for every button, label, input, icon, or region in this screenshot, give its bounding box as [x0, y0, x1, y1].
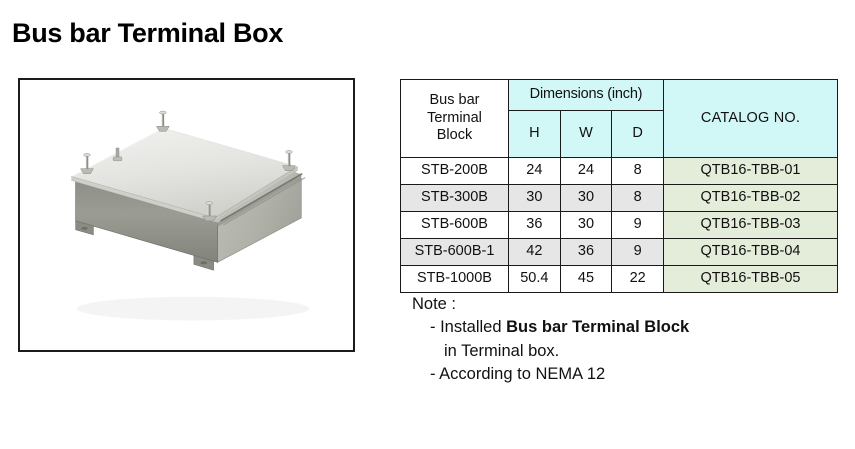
cell-w: 36: [560, 239, 612, 266]
cell-h: 30: [509, 185, 561, 212]
table-row: STB-1000B 50.4 45 22 QTB16-TBB-05: [401, 266, 838, 293]
header-terminal-block-line1: Bus bar: [401, 92, 508, 110]
note-line-3: - According to NEMA 12: [430, 363, 689, 386]
lid-screw: [81, 153, 94, 173]
cell-block-name: STB-600B-1: [401, 239, 509, 266]
header-terminal-block: Bus bar Terminal Block: [401, 80, 509, 158]
table-row: STB-600B-1 42 36 9 QTB16-TBB-04: [401, 239, 838, 266]
table-row: STB-300B 30 30 8 QTB16-TBB-02: [401, 185, 838, 212]
table-row: STB-600B 36 30 9 QTB16-TBB-03: [401, 212, 838, 239]
note-line-1-prefix: - Installed: [430, 318, 506, 336]
cell-w: 30: [560, 185, 612, 212]
cell-catalog-no: QTB16-TBB-05: [664, 266, 838, 293]
note-heading: Note :: [412, 293, 689, 316]
header-terminal-block-line2: Terminal: [401, 110, 508, 128]
cell-catalog-no: QTB16-TBB-02: [664, 185, 838, 212]
product-image-frame: [18, 78, 355, 352]
lid-screw: [156, 111, 169, 131]
cell-block-name: STB-300B: [401, 185, 509, 212]
table-head: Bus bar Terminal Block Dimensions (inch)…: [401, 80, 838, 158]
enclosure-box-3d-illustration: [20, 80, 353, 350]
cell-d: 9: [612, 239, 664, 266]
cell-block-name: STB-200B: [401, 158, 509, 185]
header-h: H: [509, 111, 561, 158]
header-dimensions-group: Dimensions (inch): [509, 80, 664, 111]
cell-h: 24: [509, 158, 561, 185]
table-body: STB-200B 24 24 8 QTB16-TBB-01 STB-300B 3…: [401, 158, 838, 293]
cell-d: 8: [612, 158, 664, 185]
page-title: Bus bar Terminal Box: [12, 18, 283, 49]
cell-d: 9: [612, 212, 664, 239]
header-terminal-block-line3: Block: [401, 127, 508, 145]
cell-catalog-no: QTB16-TBB-03: [664, 212, 838, 239]
cell-d: 8: [612, 185, 664, 212]
cell-w: 24: [560, 158, 612, 185]
note-line-2: in Terminal box.: [444, 340, 689, 363]
header-catalog-no: CATALOG NO.: [664, 80, 838, 158]
note-block: Note : - Installed Bus bar Terminal Bloc…: [412, 293, 689, 387]
cell-h: 42: [509, 239, 561, 266]
header-w: W: [560, 111, 612, 158]
cell-w: 30: [560, 212, 612, 239]
cell-h: 50.4: [509, 266, 561, 293]
cell-d: 22: [612, 266, 664, 293]
table-header-row-1: Bus bar Terminal Block Dimensions (inch)…: [401, 80, 838, 111]
cell-catalog-no: QTB16-TBB-01: [664, 158, 838, 185]
specifications-table: Bus bar Terminal Block Dimensions (inch)…: [400, 79, 838, 293]
header-d: D: [612, 111, 664, 158]
cell-w: 45: [560, 266, 612, 293]
cell-h: 36: [509, 212, 561, 239]
note-line-1: - Installed Bus bar Terminal Block: [430, 316, 689, 339]
lid-screw: [283, 150, 296, 170]
cell-block-name: STB-600B: [401, 212, 509, 239]
table-row: STB-200B 24 24 8 QTB16-TBB-01: [401, 158, 838, 185]
cell-catalog-no: QTB16-TBB-04: [664, 239, 838, 266]
note-line-1-emphasis: Bus bar Terminal Block: [506, 318, 689, 336]
cell-block-name: STB-1000B: [401, 266, 509, 293]
